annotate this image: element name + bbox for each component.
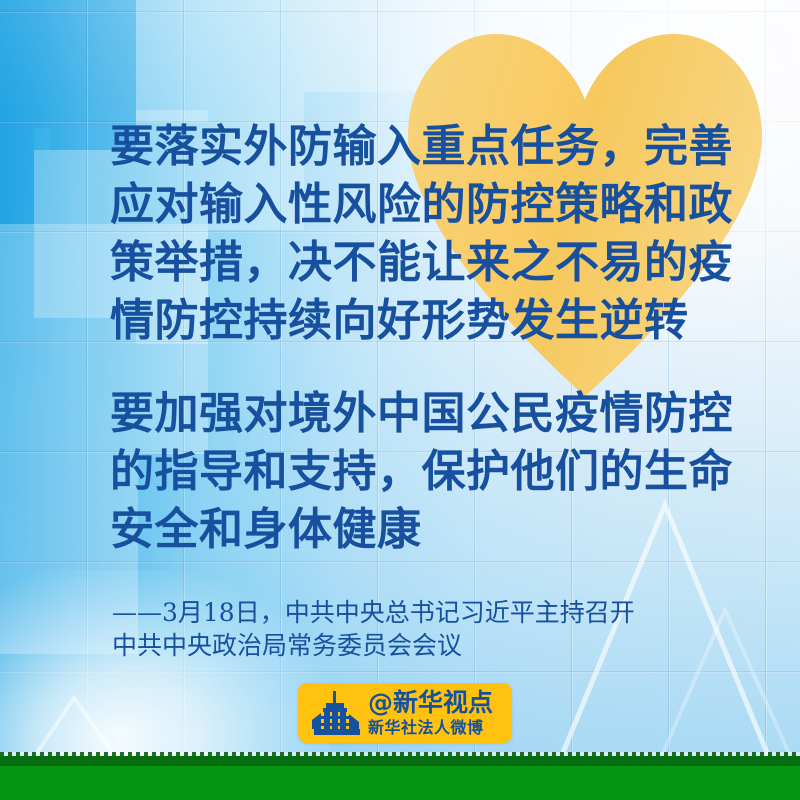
green-footer-strip xyxy=(0,766,800,800)
attribution: ——3月18日，中共中央总书记习近平主持召开 中共中央政治局常务委员会会议 xyxy=(112,596,752,662)
badge-title: @新华视点 xyxy=(368,690,493,715)
quote-line: 策举措，决不能让来之不易的疫 xyxy=(110,234,730,292)
poster-content: 要落实外防输入重点任务，完善 应对输入性风险的防控策略和政 策举措，决不能让来之… xyxy=(0,0,800,800)
badge-text-group: @新华视点 新华社法人微博 xyxy=(368,690,493,736)
attribution-line-1: ——3月18日，中共中央总书记习近平主持召开 xyxy=(112,596,752,629)
quote-line: 应对输入性风险的防控策略和政 xyxy=(110,176,730,234)
quote-line: 的指导和支持，保护他们的生命 xyxy=(110,443,730,501)
poster-canvas: 要落实外防输入重点任务，完善 应对输入性风险的防控策略和政 策举措，决不能让来之… xyxy=(0,0,800,800)
xinhua-tower-logo-icon xyxy=(308,690,362,736)
badge-subtitle: 新华社法人微博 xyxy=(368,720,493,736)
quote-paragraph-2: 要加强对境外中国公民疫情防控 的指导和支持，保护他们的生命 安全和身体健康 xyxy=(110,385,730,559)
quote-line: 情防控持续向好形势发生逆转 xyxy=(110,292,730,350)
attribution-line-2: 中共中央政治局常务委员会会议 xyxy=(112,629,752,662)
quote-line: 安全和身体健康 xyxy=(110,501,730,559)
quote-line: 要落实外防输入重点任务，完善 xyxy=(110,118,730,176)
quote-paragraph-1: 要落实外防输入重点任务，完善 应对输入性风险的防控策略和政 策举措，决不能让来之… xyxy=(110,118,730,350)
quote-line: 要加强对境外中国公民疫情防控 xyxy=(110,385,730,443)
xinhua-weibo-badge[interactable]: @新华视点 新华社法人微博 xyxy=(298,683,512,743)
